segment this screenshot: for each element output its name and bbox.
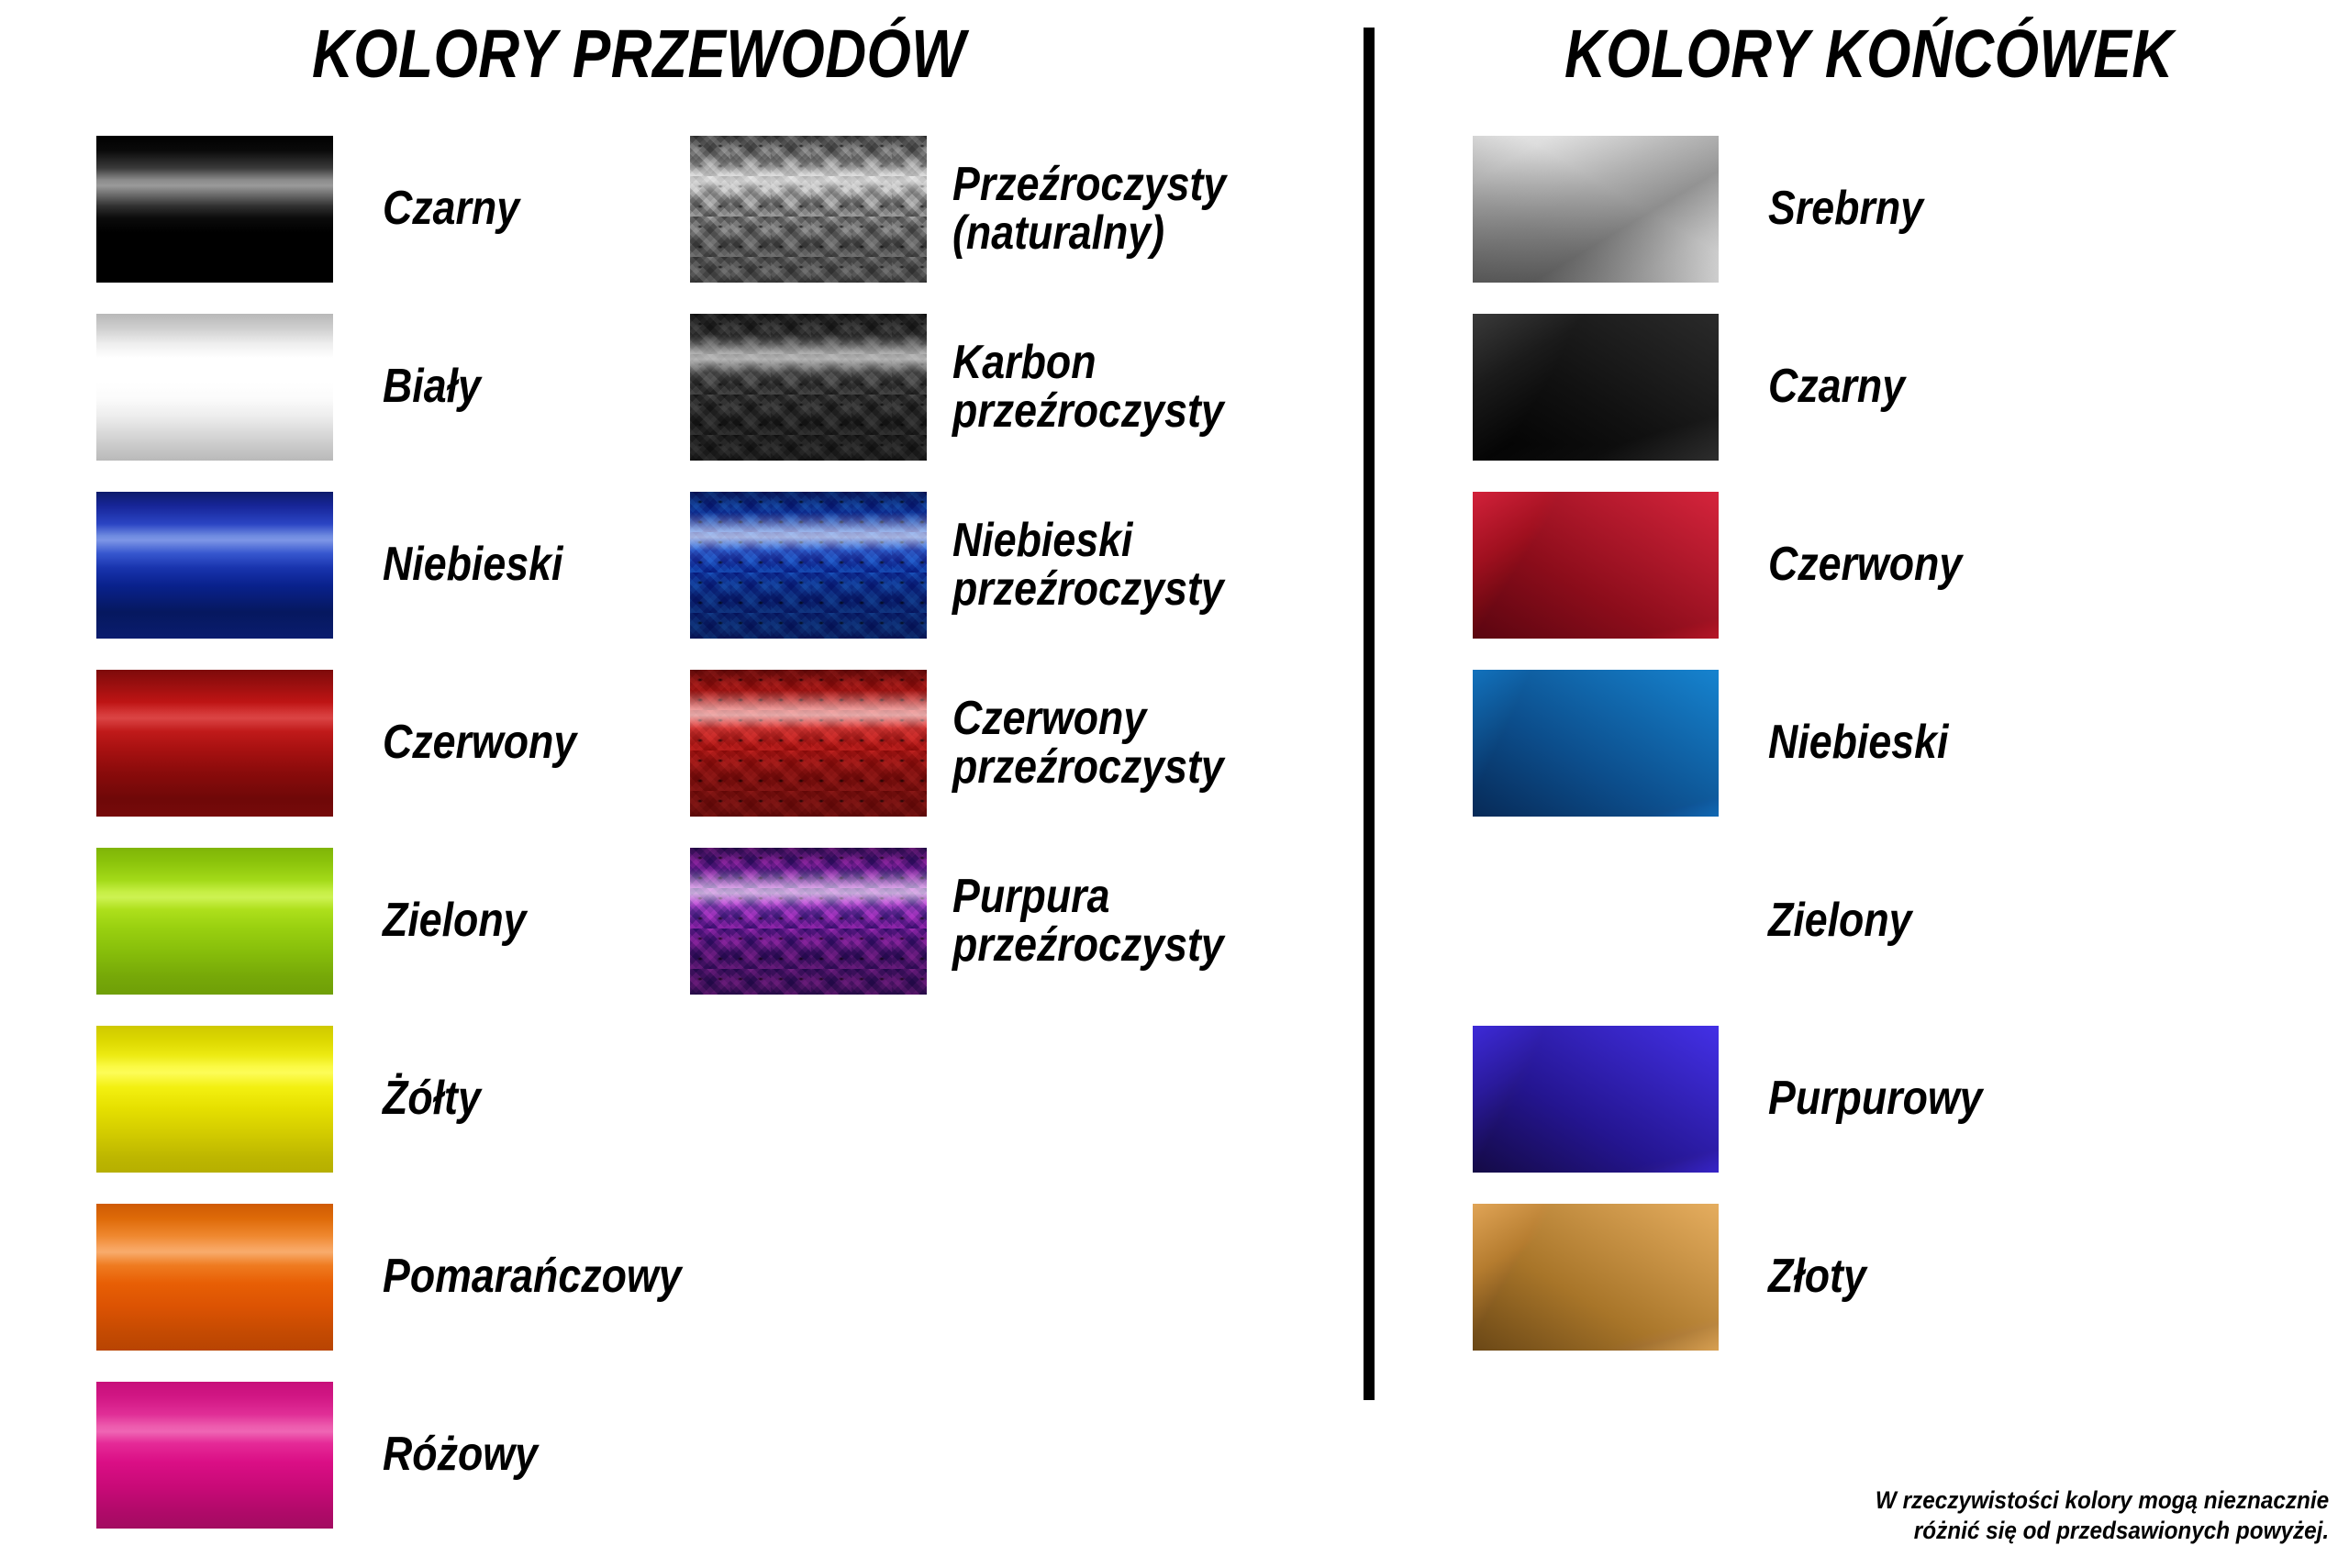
fitting-color-item[interactable]: Czarny bbox=[1473, 314, 2018, 461]
fitting-color-item-swatch[interactable] bbox=[1473, 136, 1719, 283]
fitting-color-item-label: Złoty bbox=[1768, 1252, 1866, 1301]
fitting-color-item-swatch[interactable] bbox=[1473, 492, 1719, 639]
fitting-color-item-swatch[interactable] bbox=[1473, 670, 1719, 817]
disclaimer-note: W rzeczywistości kolory mogą nieznacznie… bbox=[1876, 1485, 2329, 1546]
sleeve-color-item[interactable]: Czerwony przeźroczysty bbox=[690, 670, 1271, 817]
cable-color-item-label: Czerwony bbox=[383, 718, 576, 767]
sleeve-color-item-swatch[interactable] bbox=[690, 314, 927, 461]
sleeve-color-item-swatch[interactable] bbox=[690, 136, 927, 283]
fitting-color-item-label: Zielony bbox=[1768, 896, 1912, 945]
fitting-color-item-label: Srebrny bbox=[1768, 184, 1923, 233]
cable-color-item-swatch[interactable] bbox=[96, 314, 333, 461]
weave-dots-icon bbox=[690, 492, 927, 639]
cable-color-item-label: Różowy bbox=[383, 1430, 538, 1479]
cable-color-item[interactable]: Biały bbox=[96, 314, 730, 461]
fitting-color-item-swatch[interactable] bbox=[1473, 314, 1719, 461]
fitting-color-item-swatch[interactable] bbox=[1473, 848, 1719, 995]
fitting-color-item-swatch[interactable] bbox=[1473, 1204, 1719, 1351]
cable-color-item-label: Biały bbox=[383, 362, 481, 411]
sleeve-color-item[interactable]: Purpura przeźroczysty bbox=[690, 848, 1271, 995]
fitting-color-item-swatch[interactable] bbox=[1473, 1026, 1719, 1173]
weave-dots-icon bbox=[690, 136, 927, 283]
fitting-color-item-label: Purpurowy bbox=[1768, 1074, 1983, 1123]
fitting-color-item-label: Czarny bbox=[1768, 362, 1905, 411]
sleeve-color-list: Przeźroczysty (naturalny)Karbon przeźroc… bbox=[690, 136, 1271, 1026]
cable-color-item[interactable]: Pomarańczowy bbox=[96, 1204, 730, 1351]
vertical-divider bbox=[1364, 28, 1375, 1400]
sleeve-color-item-swatch[interactable] bbox=[690, 492, 927, 639]
sleeve-color-item-label: Przeźroczysty (naturalny) bbox=[952, 161, 1226, 258]
cable-color-item-label: Czarny bbox=[383, 184, 519, 233]
cable-color-item-label: Niebieski bbox=[383, 540, 562, 589]
fitting-color-item-label: Czerwony bbox=[1768, 540, 1962, 589]
fitting-color-item[interactable]: Zielony bbox=[1473, 848, 2018, 995]
cable-color-item[interactable]: Niebieski bbox=[96, 492, 730, 639]
page-title-cable-colors: KOLORY PRZEWODÓW bbox=[312, 15, 965, 93]
sleeve-color-item[interactable]: Przeźroczysty (naturalny) bbox=[690, 136, 1271, 283]
sleeve-color-item-label: Czerwony przeźroczysty bbox=[952, 695, 1224, 792]
cable-color-item-label: Pomarańczowy bbox=[383, 1252, 682, 1301]
cable-color-item-label: Zielony bbox=[383, 896, 527, 945]
weave-dots-icon bbox=[690, 670, 927, 817]
sleeve-color-item-swatch[interactable] bbox=[690, 670, 927, 817]
fitting-color-item[interactable]: Srebrny bbox=[1473, 136, 2018, 283]
fitting-color-item[interactable]: Złoty bbox=[1473, 1204, 2018, 1351]
fitting-color-item-label: Niebieski bbox=[1768, 718, 1948, 767]
sleeve-color-item[interactable]: Niebieski przeźroczysty bbox=[690, 492, 1271, 639]
cable-color-item-swatch[interactable] bbox=[96, 136, 333, 283]
fitting-color-item[interactable]: Niebieski bbox=[1473, 670, 2018, 817]
cable-color-item[interactable]: Różowy bbox=[96, 1382, 730, 1529]
page-title-fitting-colors: KOLORY KOŃCÓWEK bbox=[1564, 15, 2174, 93]
sleeve-color-item-label: Niebieski przeźroczysty bbox=[952, 517, 1224, 614]
cable-color-item-label: Żółty bbox=[383, 1074, 481, 1123]
cable-color-item[interactable]: Czarny bbox=[96, 136, 730, 283]
cable-color-item[interactable]: Czerwony bbox=[96, 670, 730, 817]
fitting-color-item[interactable]: Purpurowy bbox=[1473, 1026, 2018, 1173]
cable-color-item-swatch[interactable] bbox=[96, 1204, 333, 1351]
weave-dots-icon bbox=[690, 848, 927, 995]
fitting-color-list: SrebrnyCzarnyCzerwonyNiebieskiZielonyPur… bbox=[1473, 136, 2018, 1382]
sleeve-color-item-label: Purpura przeźroczysty bbox=[952, 873, 1224, 970]
cable-color-item-swatch[interactable] bbox=[96, 1382, 333, 1529]
cable-color-item[interactable]: Żółty bbox=[96, 1026, 730, 1173]
fitting-color-item[interactable]: Czerwony bbox=[1473, 492, 2018, 639]
sleeve-color-item-label: Karbon przeźroczysty bbox=[952, 339, 1224, 436]
sleeve-color-item-swatch[interactable] bbox=[690, 848, 927, 995]
weave-dots-icon bbox=[690, 314, 927, 461]
cable-color-item-swatch[interactable] bbox=[96, 848, 333, 995]
cable-color-item-swatch[interactable] bbox=[96, 1026, 333, 1173]
sleeve-color-item[interactable]: Karbon przeźroczysty bbox=[690, 314, 1271, 461]
cable-color-item[interactable]: Zielony bbox=[96, 848, 730, 995]
cable-color-list: CzarnyBiałyNiebieskiCzerwonyZielonyŻółty… bbox=[96, 136, 730, 1560]
cable-color-item-swatch[interactable] bbox=[96, 670, 333, 817]
cable-color-item-swatch[interactable] bbox=[96, 492, 333, 639]
